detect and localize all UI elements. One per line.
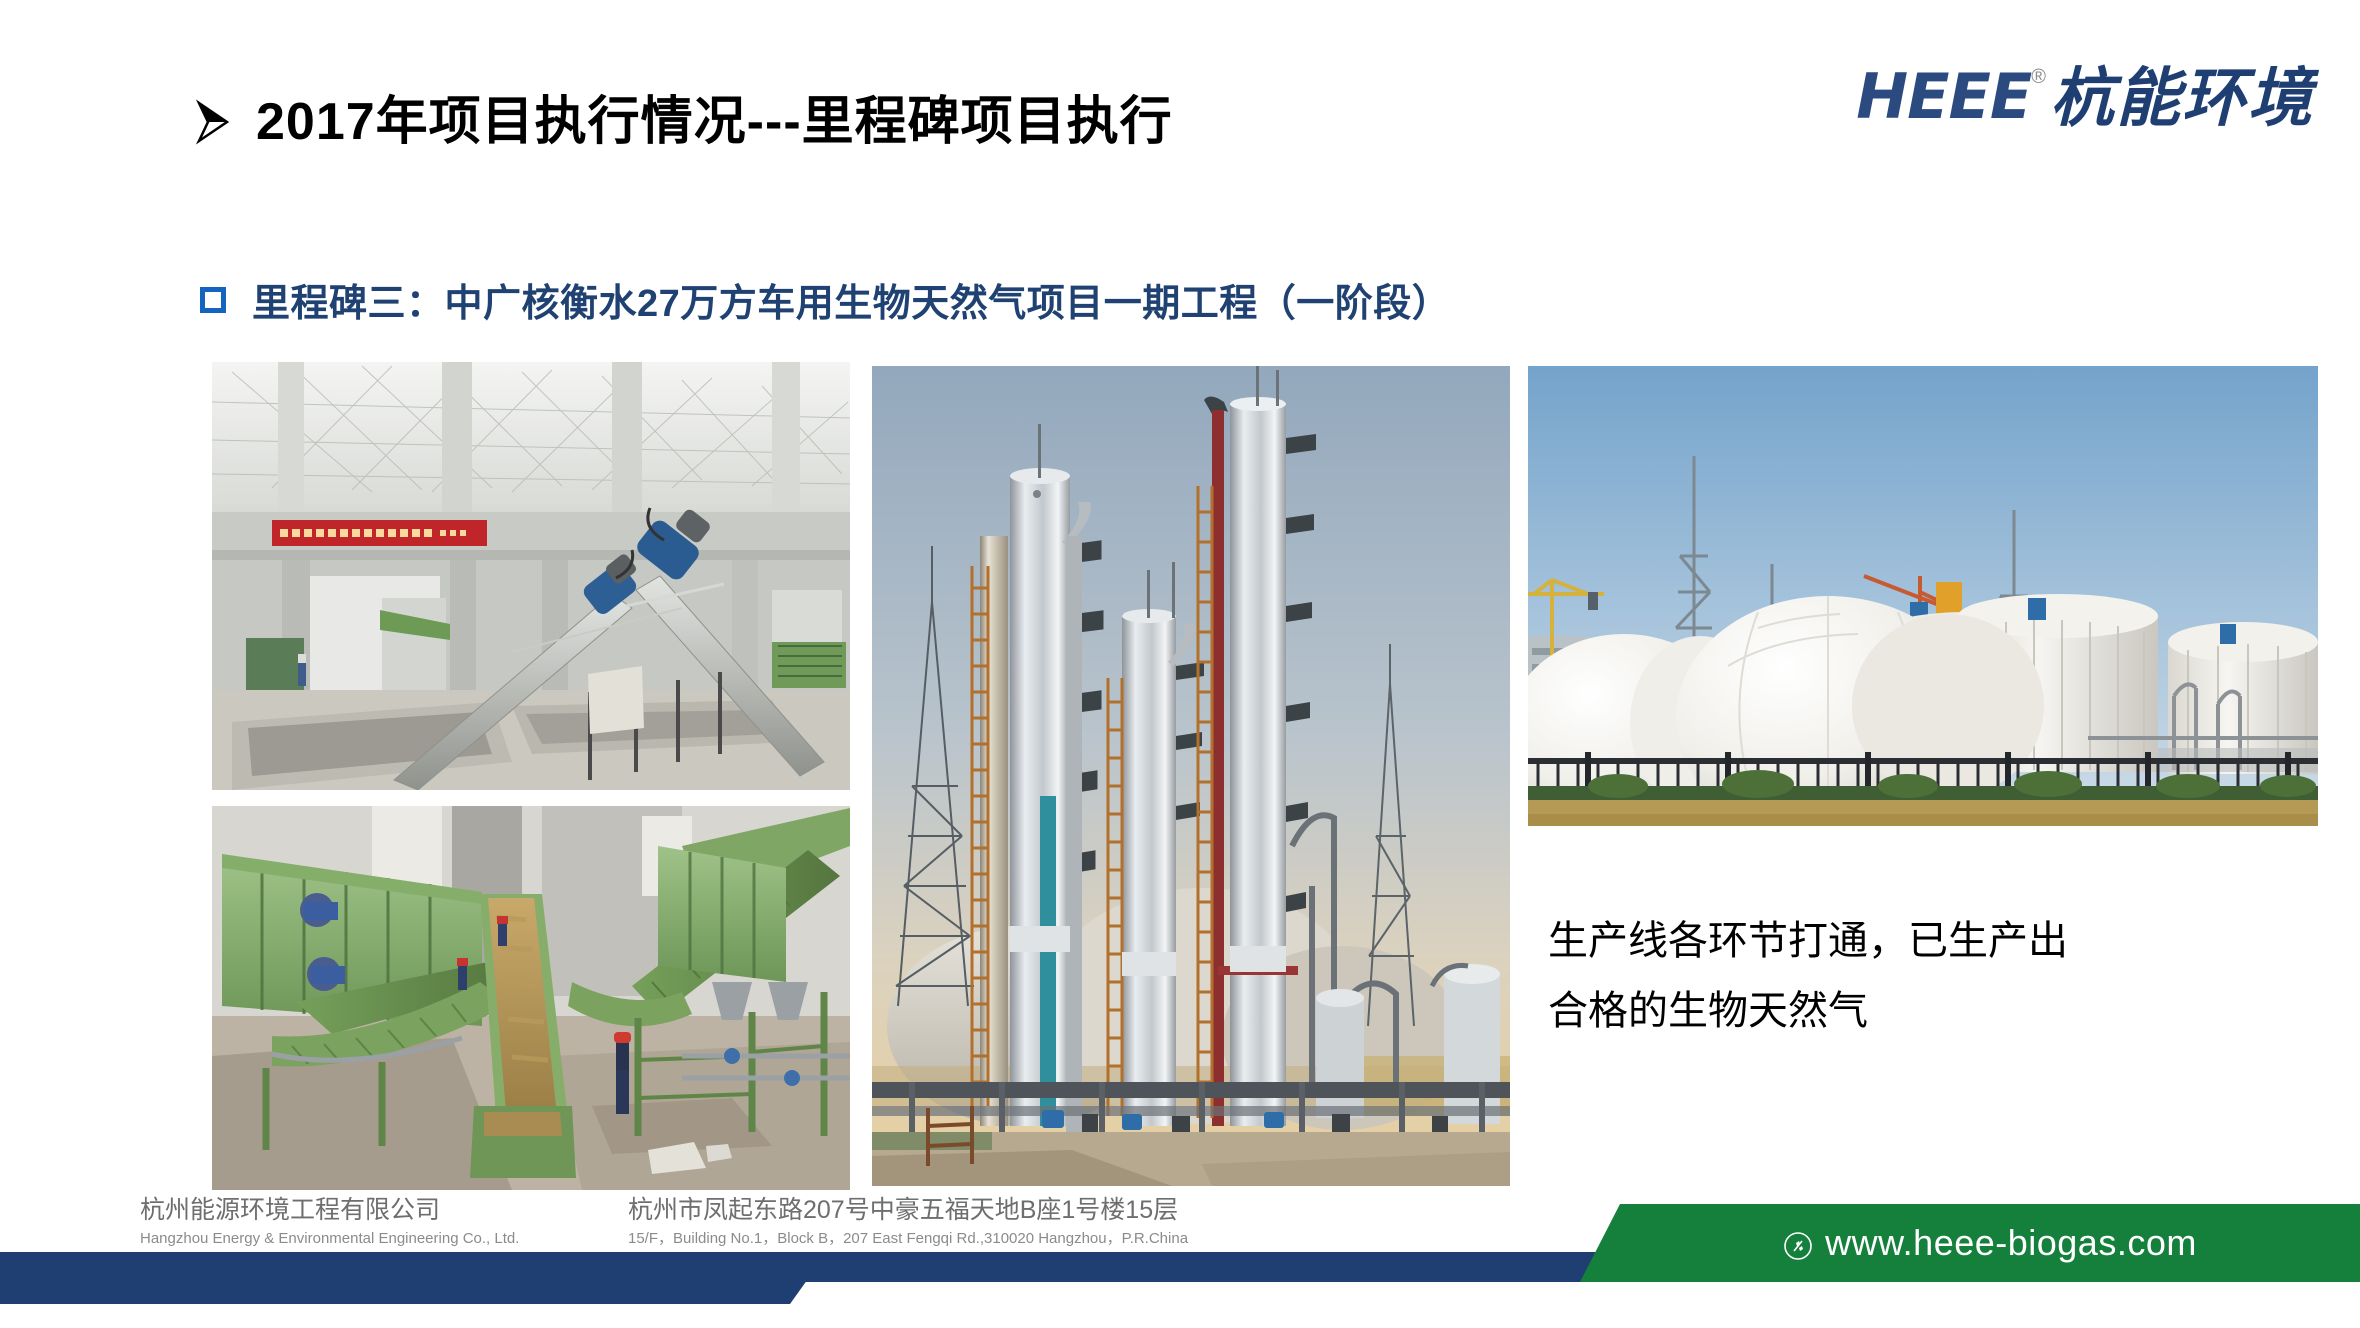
footer-address-block: 杭州市凤起东路207号中豪五福天地B座1号楼15层 15/F，Building … [628,1195,1188,1249]
photo-gas-holders [1528,366,2318,826]
footer-company-en: Hangzhou Energy & Environmental Engineer… [140,1229,519,1249]
caption-line-1: 生产线各环节打通，已生产出 [1548,906,2288,976]
photo-conveyors [212,806,850,1190]
caption-line-2: 合格的生物天然气 [1548,976,2288,1046]
photo-caption: 生产线各环节打通，已生产出 合格的生物天然气 [1548,906,2288,1046]
footer-blue-tab [0,1276,810,1304]
registered-mark-icon: ® [2031,66,2046,89]
website-banner[interactable]: www.heee-biogas.com [1580,1204,2360,1282]
page-title: 2017年项目执行情况---里程碑项目执行 [256,96,1173,148]
footer-company-block: 杭州能源环境工程有限公司 Hangzhou Energy & Environme… [140,1195,519,1249]
milestone-subtitle: 里程碑三：中广核衡水27万方车用生物天然气项目一期工程（一阶段） [252,272,1450,327]
footer-company-cn: 杭州能源环境工程有限公司 [140,1195,519,1225]
footer-address-cn: 杭州市凤起东路207号中豪五福天地B座1号楼15层 [628,1195,1188,1225]
photo-purification-towers [872,366,1510,1186]
logo-latin-text: HEEE [1856,66,2031,128]
square-bullet-icon [200,287,226,313]
subtitle-row: 里程碑三：中广核衡水27万方车用生物天然气项目一期工程（一阶段） [200,272,1450,327]
globe-icon [1783,1228,1813,1258]
website-url-text: www.heee-biogas.com [1825,1222,2197,1264]
slide-title-row: 2017年项目执行情况---里程碑项目执行 [196,96,1173,148]
company-logo: HEEE®杭能环境 [1856,66,2314,152]
slide-root: 2017年项目执行情况---里程碑项目执行 HEEE®杭能环境 里程碑三：中广核… [0,0,2360,1328]
website-url-row: www.heee-biogas.com [1580,1204,2360,1282]
photo-plant-interior [212,362,850,790]
logo-chinese-text: 杭能环境 [2050,66,2314,130]
footer-address-en: 15/F，Building No.1，Block B，207 East Feng… [628,1229,1188,1249]
arrow-bullet-icon [196,99,230,145]
